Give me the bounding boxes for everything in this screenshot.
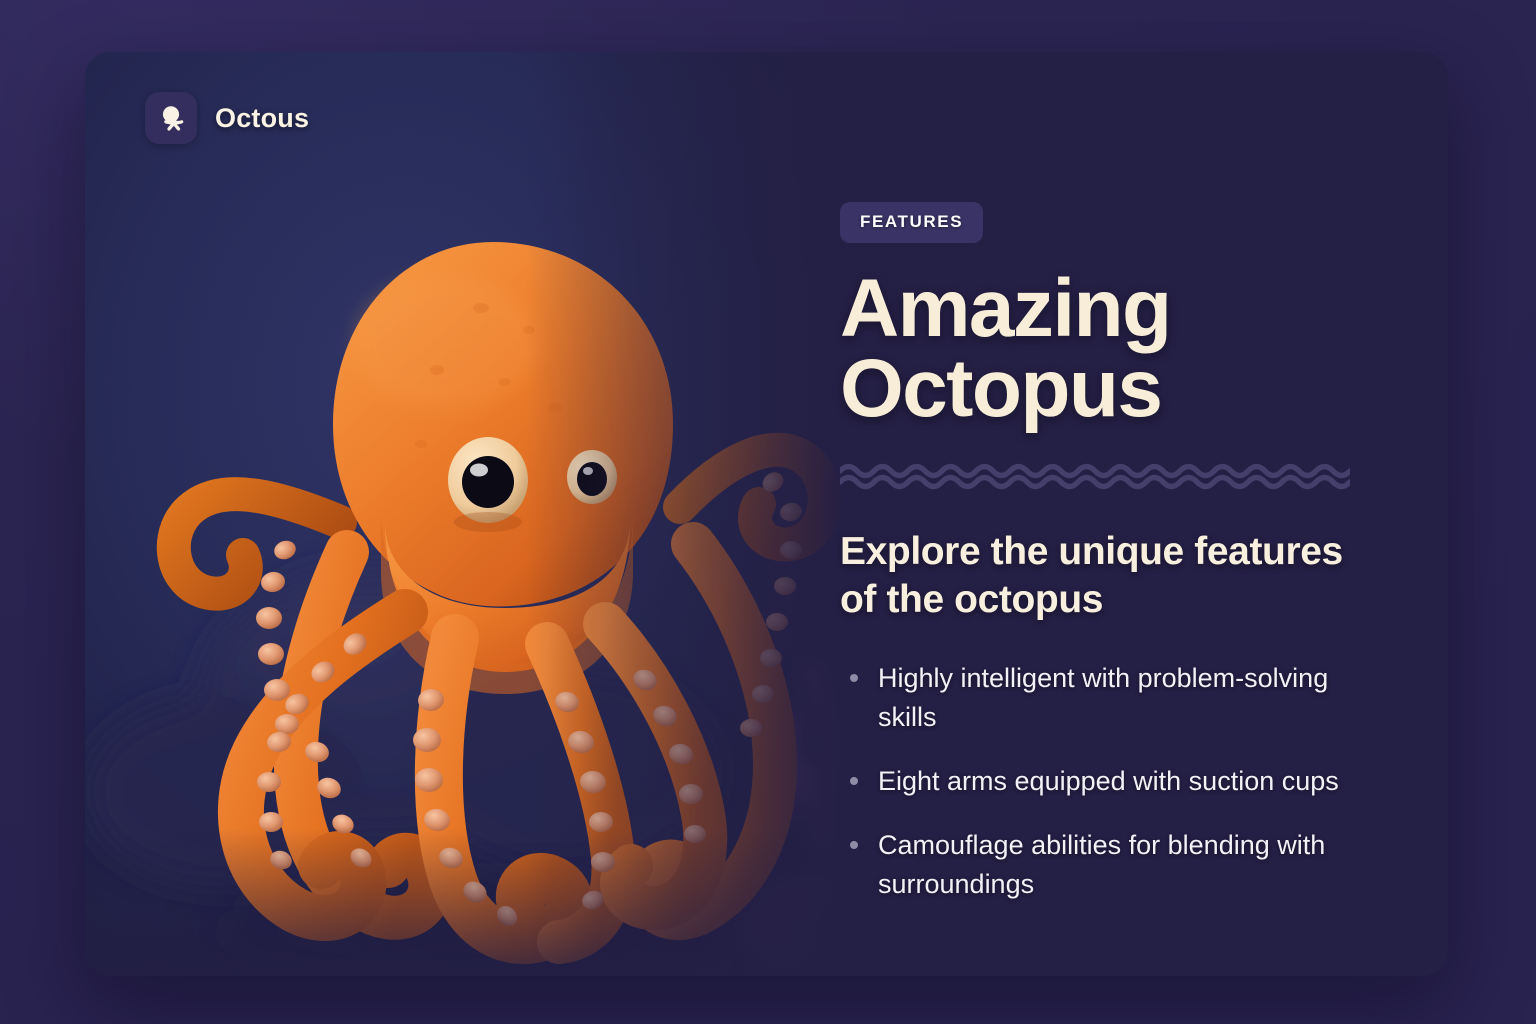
features-badge: FEATURES [840, 202, 983, 243]
subtitle-line-2: of the octopus [840, 578, 1103, 621]
list-item: Eight arms equipped with suction cups [840, 762, 1370, 800]
list-item: Camouflage abilities for blending with s… [840, 826, 1370, 903]
brand-logo[interactable] [145, 92, 197, 144]
octopus-icon [154, 101, 188, 135]
brand[interactable]: Octous [145, 92, 309, 144]
list-item: Highly intelligent with problem-solving … [840, 659, 1370, 736]
feature-list: Highly intelligent with problem-solving … [840, 659, 1400, 903]
headline-line-2: Octopus [840, 343, 1161, 434]
octopus-illustration [85, 52, 845, 976]
feature-panel: FEATURES Amazing Octopus Explore the uni… [840, 202, 1400, 929]
section-subtitle: Explore the unique features of the octop… [840, 528, 1350, 623]
subtitle-line-1: Explore the unique features [840, 530, 1343, 573]
page-title: Amazing Octopus [840, 269, 1400, 428]
headline-line-1: Amazing [840, 263, 1171, 354]
wave-divider-icon [840, 462, 1350, 490]
brand-name: Octous [215, 103, 309, 134]
octopus-artwork [85, 52, 845, 976]
feature-card: Octous FEATURES Amazing Octopus Explore … [85, 52, 1448, 976]
